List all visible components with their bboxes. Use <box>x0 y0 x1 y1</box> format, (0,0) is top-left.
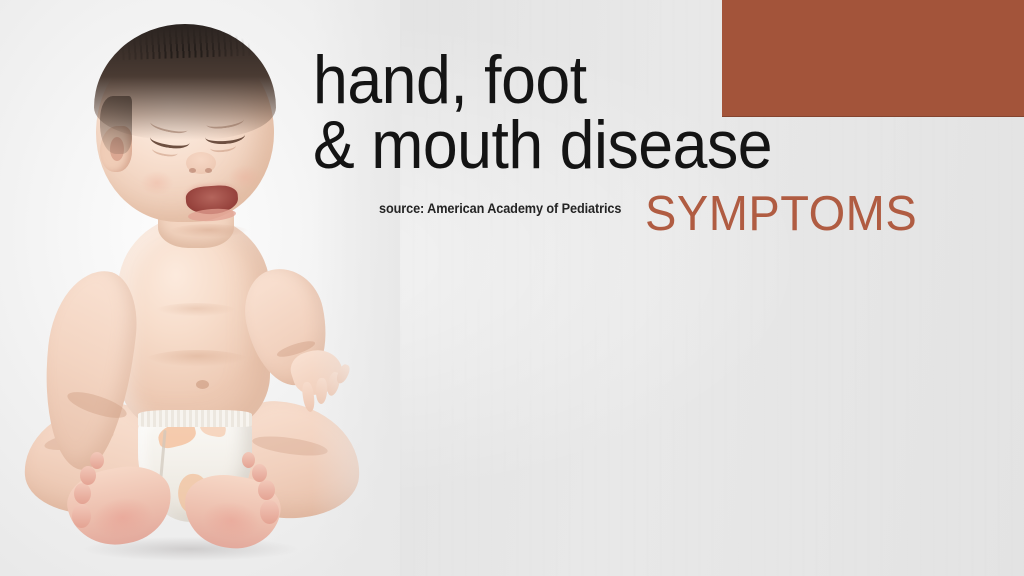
headline: hand, foot & mouth disease <box>313 47 920 180</box>
chin-fold <box>166 224 252 244</box>
headline-line-1: hand, foot <box>313 47 920 114</box>
right-toe-2 <box>258 480 275 500</box>
left-toe-3 <box>80 466 96 485</box>
floor-shadow <box>40 532 340 566</box>
source-credit: source: American Academy of Pediatrics <box>379 201 621 216</box>
right-nostril <box>205 168 212 173</box>
news-graphic-slide: hand, foot & mouth disease source: Ameri… <box>0 0 1024 576</box>
left-toe-2 <box>74 483 91 504</box>
right-toe-4 <box>242 452 255 468</box>
hair-sideburn <box>100 96 132 154</box>
left-nostril <box>189 168 196 173</box>
hair-spikes <box>109 15 260 60</box>
subtitle-symptoms: SYMPTOMS <box>645 190 917 239</box>
belly-fold-upper <box>150 303 242 325</box>
belly-fold-lower <box>138 350 256 380</box>
headline-line-2: & mouth disease <box>313 112 920 179</box>
right-toe-3 <box>252 464 267 482</box>
navel <box>196 380 209 389</box>
diaper-waistband <box>138 410 252 427</box>
left-cheek <box>134 166 180 200</box>
left-toe-4 <box>90 452 104 469</box>
